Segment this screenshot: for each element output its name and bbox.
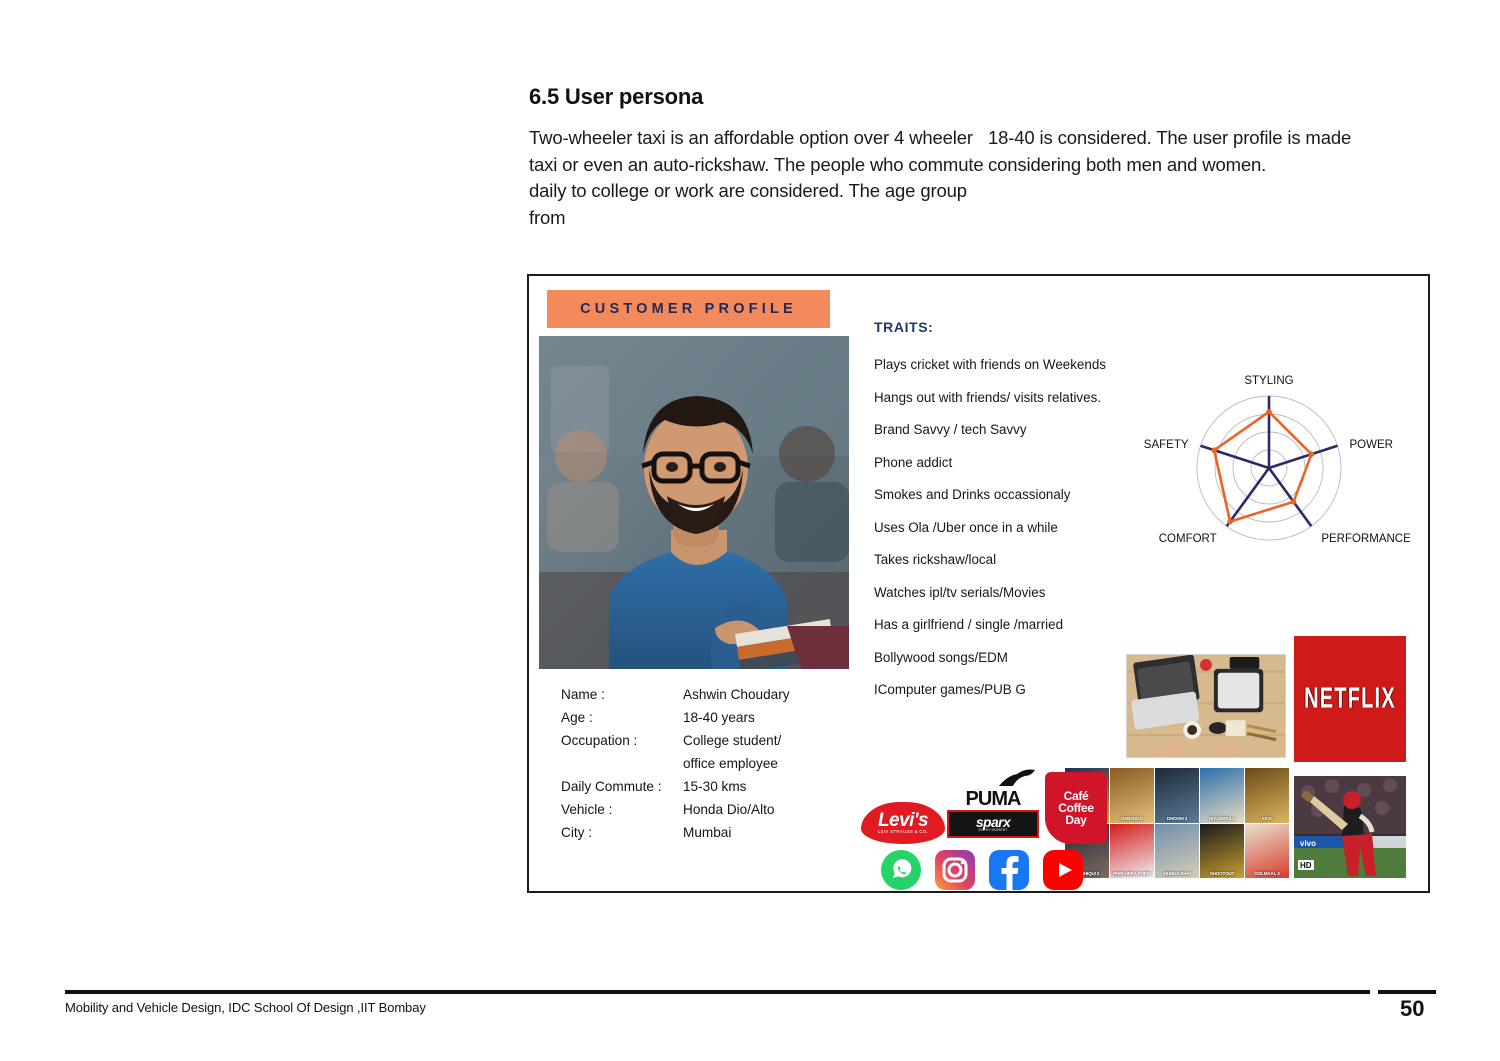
movie-poster: PHIR HERA PHERI bbox=[1110, 824, 1154, 879]
svg-text:PERFORMANCE: PERFORMANCE bbox=[1321, 533, 1411, 545]
brand-logo-collage: Levi's LEVI STRAUSS & CO. PUMA sparx EVE… bbox=[859, 766, 1069, 878]
detail-value: Mumbai bbox=[683, 821, 861, 844]
detail-value: College student/ bbox=[683, 729, 861, 752]
sparx-logo: sparx EVERY MOMENT bbox=[947, 810, 1039, 838]
facebook-icon[interactable] bbox=[989, 850, 1029, 890]
footer-rule-right bbox=[1378, 990, 1436, 994]
detail-row-vehicle: Vehicle : Honda Dio/Alto bbox=[561, 798, 861, 821]
detail-value: 15-30 kms bbox=[683, 775, 861, 798]
netflix-logo-panel: NETFLIX bbox=[1294, 636, 1406, 762]
detail-row-city: City : Mumbai bbox=[561, 821, 861, 844]
detail-value-continued: office employee bbox=[561, 752, 861, 775]
intro-text-left: Two-wheeler taxi is an affordable option… bbox=[529, 125, 999, 231]
cafe-coffee-day-logo: CaféCoffeeDay bbox=[1045, 772, 1107, 844]
social-icon-row bbox=[881, 850, 1081, 894]
poster-title: GOLMAAL 3 bbox=[1245, 871, 1289, 876]
detail-row-occupation: Occupation : College student/ bbox=[561, 729, 861, 752]
trait-item: Hangs out with friends/ visits relatives… bbox=[874, 389, 1114, 406]
netflix-wordmark: NETFLIX bbox=[1304, 682, 1396, 715]
customer-profile-banner-label: CUSTOMER PROFILE bbox=[580, 301, 797, 317]
svg-text:vivo: vivo bbox=[1300, 839, 1316, 848]
detail-key: Daily Commute : bbox=[561, 775, 683, 798]
workspace-photo bbox=[1126, 654, 1286, 758]
intro-paragraph-right: 18-40 is considered. The user profile is… bbox=[988, 125, 1428, 178]
trait-item: Brand Savvy / tech Savvy bbox=[874, 421, 1114, 438]
customer-profile-banner: CUSTOMER PROFILE bbox=[547, 290, 830, 328]
detail-value: Honda Dio/Alto bbox=[683, 798, 861, 821]
intro-paragraph-left: Two-wheeler taxi is an affordable option… bbox=[529, 125, 999, 231]
detail-key: Age : bbox=[561, 706, 683, 729]
page-number: 50 bbox=[1400, 996, 1424, 1022]
cricket-photo: vivo HD bbox=[1294, 776, 1406, 878]
trait-item: Has a girlfriend / single /married bbox=[874, 616, 1114, 633]
svg-text:HD: HD bbox=[1300, 861, 1312, 870]
intro-text-right: 18-40 is considered. The user profile is… bbox=[988, 125, 1428, 178]
puma-cat-icon bbox=[997, 768, 1037, 788]
movie-poster: GOLMAAL 3 bbox=[1245, 824, 1289, 879]
movie-poster: DABANGG bbox=[1110, 768, 1154, 823]
trait-item: Watches ipl/tv serials/Movies bbox=[874, 584, 1114, 601]
instagram-icon[interactable] bbox=[935, 850, 975, 890]
page-title: 6.5 User persona bbox=[529, 84, 703, 110]
poster-title: SHOOTOUT bbox=[1200, 871, 1244, 876]
svg-text:POWER: POWER bbox=[1349, 439, 1392, 451]
trait-item: Uses Ola /Uber once in a while bbox=[874, 519, 1114, 536]
movie-poster: MUNNA BHAI bbox=[1155, 824, 1199, 879]
svg-text:COMFORT: COMFORT bbox=[1159, 533, 1217, 545]
poster-title: PHIR HERA PHERI bbox=[1110, 871, 1154, 876]
sparx-subtext: EVERY MOMENT bbox=[978, 828, 1007, 832]
trait-item: Takes rickshaw/local bbox=[874, 551, 1114, 568]
levis-logo: Levi's LEVI STRAUSS & CO. bbox=[861, 802, 945, 844]
trait-item: Phone addict bbox=[874, 454, 1114, 471]
puma-wordmark: PUMA bbox=[966, 790, 1021, 808]
attributes-radar-chart: STYLINGPOWERPERFORMANCECOMFORTSAFETY bbox=[1129, 368, 1421, 553]
youtube-icon[interactable] bbox=[1043, 850, 1083, 890]
persona-portrait-photo bbox=[539, 336, 849, 669]
ccd-wordmark: CaféCoffeeDay bbox=[1058, 790, 1094, 826]
footer-credit: Mobility and Vehicle Design, IDC School … bbox=[65, 1000, 426, 1015]
movie-poster: HOUSEFULL bbox=[1200, 768, 1244, 823]
detail-key: City : bbox=[561, 821, 683, 844]
persona-details: Name : Ashwin Choudary Age : 18-40 years… bbox=[561, 683, 861, 844]
traits-heading: TRAITS: bbox=[874, 319, 933, 335]
detail-key: Vehicle : bbox=[561, 798, 683, 821]
trait-item: Bollywood songs/EDM bbox=[874, 649, 1114, 666]
trait-item: Plays cricket with friends on Weekends bbox=[874, 356, 1114, 373]
levis-subtext: LEVI STRAUSS & CO. bbox=[878, 829, 928, 834]
trait-item: IComputer games/PUB G bbox=[874, 681, 1114, 698]
detail-key: Occupation : bbox=[561, 729, 683, 752]
poster-title: HOUSEFULL bbox=[1200, 816, 1244, 821]
footer-rule-left bbox=[65, 990, 1370, 994]
svg-text:STYLING: STYLING bbox=[1244, 375, 1293, 387]
poster-title: DHOOM 3 bbox=[1155, 816, 1199, 821]
poster-title: KICK bbox=[1245, 816, 1289, 821]
customer-profile-card: CUSTOMER PROFILE bbox=[527, 274, 1430, 893]
movie-poster: SHOOTOUT bbox=[1200, 824, 1244, 879]
movie-poster: DHOOM 3 bbox=[1155, 768, 1199, 823]
detail-key: Name : bbox=[561, 683, 683, 706]
trait-item: Smokes and Drinks occassionaly bbox=[874, 486, 1114, 503]
detail-row-age: Age : 18-40 years bbox=[561, 706, 861, 729]
svg-text:SAFETY: SAFETY bbox=[1144, 439, 1189, 451]
poster-title: DABANGG bbox=[1110, 816, 1154, 821]
poster-title: MUNNA BHAI bbox=[1155, 871, 1199, 876]
detail-value: 18-40 years bbox=[683, 706, 861, 729]
traits-list: Plays cricket with friends on Weekends H… bbox=[874, 356, 1114, 698]
sparx-wordmark: sparx bbox=[976, 816, 1010, 828]
detail-row-name: Name : Ashwin Choudary bbox=[561, 683, 861, 706]
whatsapp-icon[interactable] bbox=[881, 850, 921, 890]
levis-wordmark: Levi's bbox=[878, 812, 928, 829]
document-page: 6.5 User persona Two-wheeler taxi is an … bbox=[0, 0, 1500, 1061]
detail-value: Ashwin Choudary bbox=[683, 683, 861, 706]
puma-logo: PUMA bbox=[947, 774, 1039, 808]
movie-poster: KICK bbox=[1245, 768, 1289, 823]
detail-row-daily-commute: Daily Commute : 15-30 kms bbox=[561, 775, 861, 798]
